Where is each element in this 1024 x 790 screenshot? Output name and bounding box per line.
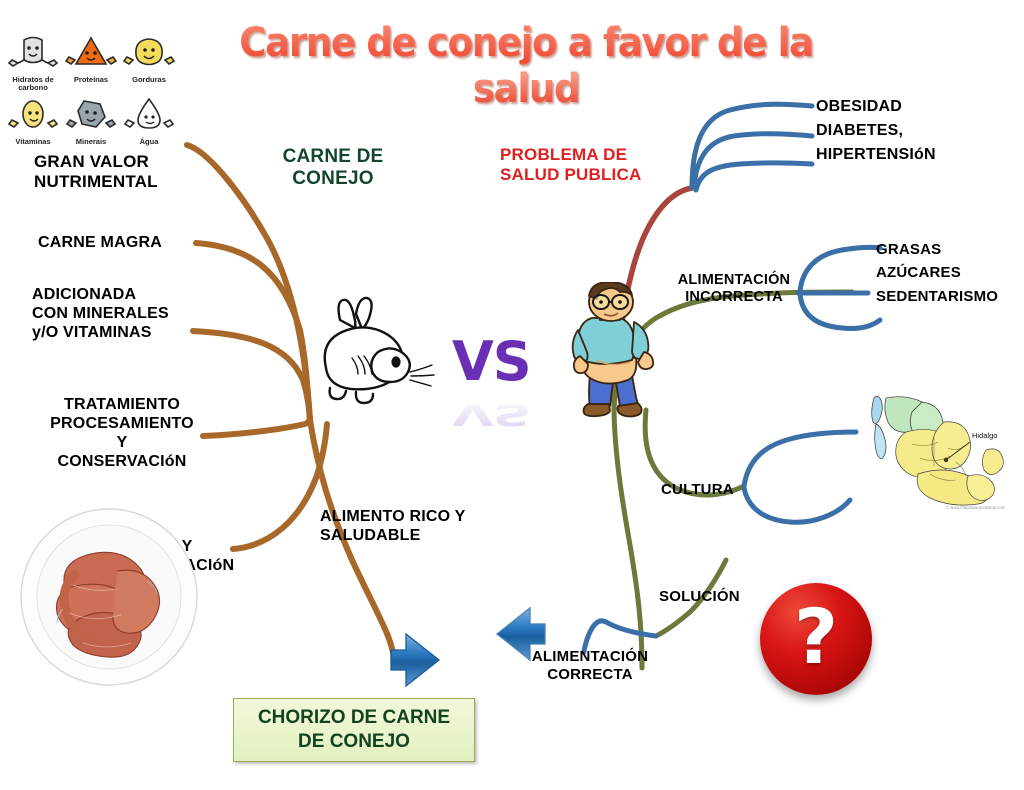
proteins-icon bbox=[62, 30, 120, 76]
arrow-right-pointing bbox=[391, 634, 439, 686]
water-label: Água bbox=[120, 138, 178, 146]
label-problema-children: OBESIDAD DIABETES, HIPERTENSIóN bbox=[816, 95, 936, 167]
label-tratamiento-procesamiento: TRATAMIENTO PROCESAMIENTO Y CONSERVACIóN bbox=[32, 396, 212, 472]
label-grasas: GRASAS bbox=[876, 238, 998, 261]
label-hipertension: HIPERTENSIóN bbox=[816, 143, 936, 167]
nutrient-minerals: Minerais bbox=[62, 92, 120, 146]
label-alimentacion-correcta: ALIMENTACIÓN CORRECTA bbox=[522, 648, 658, 683]
minerals-icon bbox=[62, 92, 120, 138]
label-obesidad: OBESIDAD bbox=[816, 95, 936, 119]
brown-branch-tratamiento bbox=[203, 420, 310, 436]
carbs-icon bbox=[4, 30, 62, 76]
label-azucares: AZÚCARES bbox=[876, 261, 998, 284]
blue-branch-map-upper bbox=[744, 432, 856, 486]
fats-label: Gorduras bbox=[120, 76, 178, 84]
label-adicionada-minerales: ADICIONADA CON MINERALES y/O VITAMINAS bbox=[32, 286, 169, 343]
blue-branch-sedentarismo bbox=[800, 294, 880, 329]
map-state-label: Hidalgo bbox=[972, 431, 997, 440]
label-diabetes: DIABETES, bbox=[816, 119, 936, 143]
proteins-label: Proteínas bbox=[62, 76, 120, 84]
minerals-label: Minerais bbox=[62, 138, 120, 146]
water-icon bbox=[120, 92, 178, 138]
label-carne-magra: CARNE MAGRA bbox=[38, 234, 162, 253]
label-sedentarismo: SEDENTARISMO bbox=[876, 285, 998, 308]
fats-icon bbox=[120, 30, 178, 76]
nutrient-proteins: Proteínas bbox=[62, 30, 120, 92]
nutrient-row-2: Vitaminas Minerais bbox=[4, 92, 179, 146]
mexico-map-image: Hidalgo © www.mapasparacolorear.com bbox=[860, 388, 1020, 513]
node-problema-salud-publica: PROBLEMA DE SALUD PUBLICA bbox=[500, 145, 690, 185]
blue-branch-hipertension bbox=[696, 163, 812, 190]
product-box-line1: CHORIZO DE CARNE bbox=[234, 706, 474, 730]
rabbit-illustration bbox=[312, 296, 452, 416]
vitamins-icon bbox=[4, 92, 62, 138]
mindmap-canvas: Carne de conejo a favor de la salud bbox=[0, 0, 1024, 790]
question-mark-badge: ? bbox=[760, 583, 872, 695]
chorizo-plate-photo bbox=[13, 497, 205, 689]
nutrient-row-1: Hidratos de carbono Proteínas bbox=[4, 30, 179, 92]
blue-branch-grasas bbox=[800, 247, 880, 292]
nutrient-carbs: Hidratos de carbono bbox=[4, 30, 62, 92]
nutrient-vitamins: Vitaminas bbox=[4, 92, 62, 146]
label-gran-valor-nutrimental: GRAN VALOR NUTRIMENTAL bbox=[34, 152, 158, 192]
node-carne-de-conejo: CARNE DE CONEJO bbox=[273, 146, 393, 191]
label-solucion: SOLUCIÓN bbox=[659, 588, 740, 606]
product-box-chorizo: CHORIZO DE CARNE DE CONEJO bbox=[233, 698, 475, 762]
carbs-label: Hidratos de carbono bbox=[4, 76, 62, 92]
nutrient-icon-grid: Hidratos de carbono Proteínas bbox=[4, 30, 179, 146]
vs-label: VS VS bbox=[452, 330, 531, 446]
label-alimentacion-children: GRASAS AZÚCARES SEDENTARISMO bbox=[876, 238, 998, 308]
label-cultura: CULTURA bbox=[661, 481, 734, 499]
product-box-line2: DE CONEJO bbox=[234, 730, 474, 754]
nutrient-water: Água bbox=[120, 92, 178, 146]
vitamins-label: Vitaminas bbox=[4, 138, 62, 146]
blue-branch-map-lower bbox=[744, 488, 850, 522]
label-alimentacion-incorrecta: ALIMENTACIÓN INCORRECTA bbox=[668, 272, 800, 306]
nutrient-fats: Gorduras bbox=[120, 30, 178, 92]
obese-man-illustration bbox=[556, 282, 668, 427]
label-alimento-rico-saludable: ALIMENTO RICO Y SALUDABLE bbox=[320, 508, 466, 546]
map-credit: © www.mapasparacolorear.com bbox=[946, 505, 1006, 510]
